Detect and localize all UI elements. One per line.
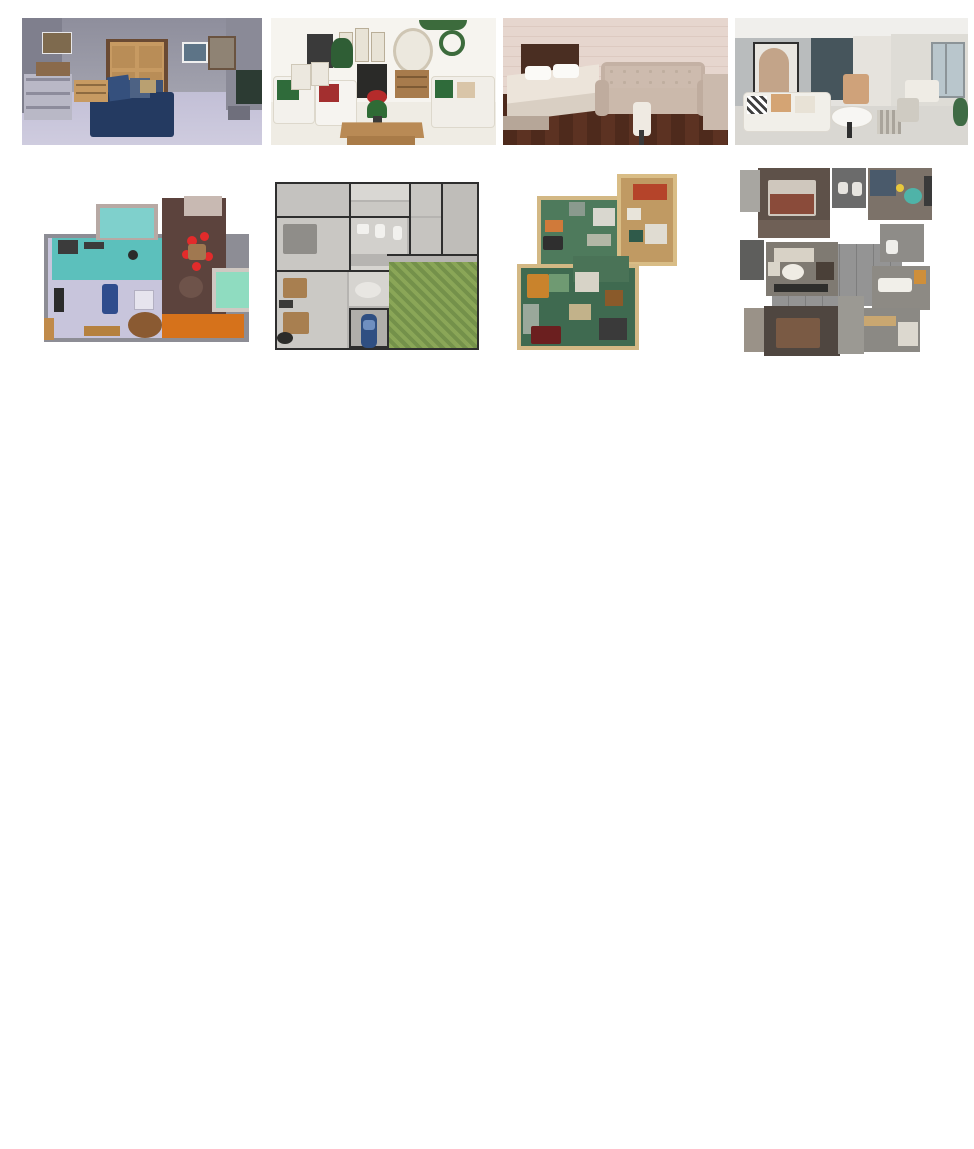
hssd-floorplan bbox=[275, 182, 479, 350]
spatiallm-render bbox=[735, 18, 968, 145]
ase-render bbox=[503, 18, 728, 145]
hssd-render bbox=[271, 18, 496, 145]
procthor-render bbox=[22, 18, 262, 145]
statistics-table-block bbox=[0, 440, 974, 452]
spatiallm-floorplan bbox=[738, 166, 934, 356]
ase-floorplan bbox=[513, 168, 718, 354]
teaser-figure bbox=[0, 0, 974, 400]
procthor-floorplan bbox=[44, 192, 249, 347]
